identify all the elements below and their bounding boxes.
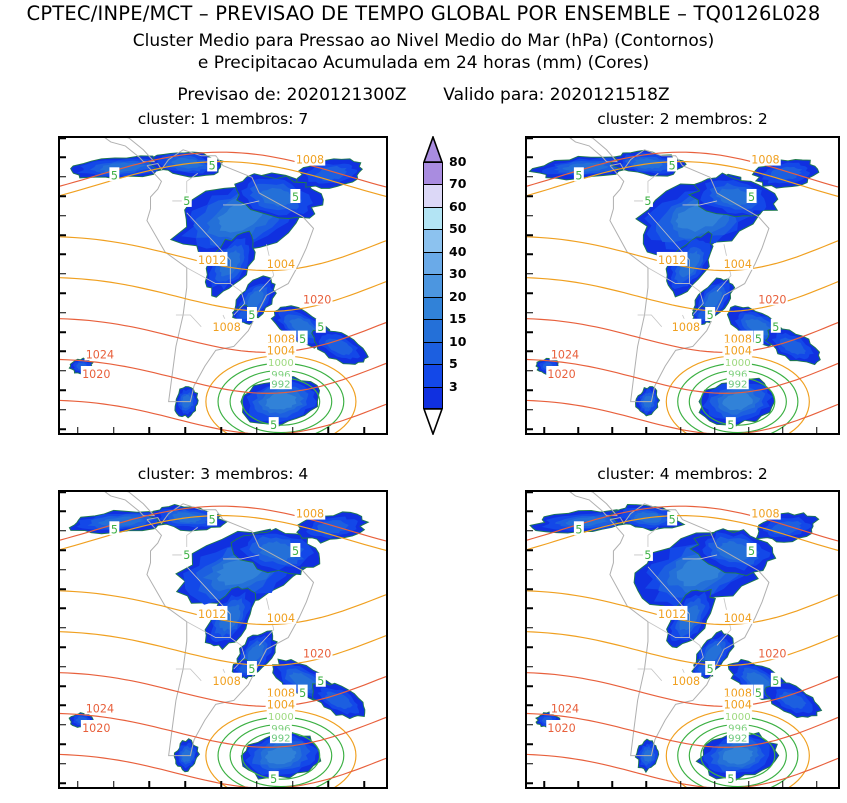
svg-text:1020: 1020 [547,368,575,381]
svg-text:5: 5 [669,160,676,173]
x-axis-tick-mark [816,427,818,433]
map-panel-cluster-2[interactable]: 1008101210041020102410201008100810041000… [525,136,840,435]
svg-text:1004: 1004 [724,612,752,625]
y-axis-tick-mark [527,569,533,571]
y-axis-tick-mark [527,254,533,256]
colorbar-tick-label: 5 [449,358,458,371]
colorbar-tick-label: 60 [449,201,466,214]
y-axis-tick-mark [60,627,66,629]
y-axis-tick-mark [60,157,66,159]
colorbar-tick-label: 3 [449,380,458,393]
svg-text:1012: 1012 [658,608,686,621]
panel-caption-cluster-4: cluster: 4 membros: 2 [525,465,840,483]
y-axis-tick-mark [60,705,66,707]
colorbar-band [423,297,443,319]
svg-text:5: 5 [575,169,582,182]
svg-text:1024: 1024 [86,702,114,715]
colorbar-band [423,229,443,251]
svg-text:5: 5 [755,333,762,346]
x-axis-tick-mark [543,427,545,433]
svg-text:5: 5 [248,663,255,676]
map-canvas: 1008101210041020102410201008100810041000… [60,138,386,433]
svg-text:1008: 1008 [672,675,700,688]
svg-text:5: 5 [575,523,582,536]
svg-text:5: 5 [292,545,299,558]
y-axis-tick-mark [527,666,533,668]
y-axis-tick-mark [60,511,66,513]
colorbar-under-arrow [423,409,443,435]
y-axis-tick-mark [60,273,66,275]
y-axis-tick-mark [527,724,533,726]
subtitle-line-2: e Precipitacao Acumulada em 24 horas (mm… [0,53,847,73]
x-axis-tick-mark [220,781,222,787]
y-axis-tick-mark [527,351,533,353]
y-axis-tick-mark [60,254,66,256]
x-axis-tick-mark [77,781,79,787]
svg-text:5: 5 [292,191,299,204]
panel-caption-cluster-2: cluster: 2 membros: 2 [525,110,840,128]
y-axis-tick-mark [527,549,533,551]
svg-text:5: 5 [317,321,324,334]
svg-text:1024: 1024 [86,348,114,361]
x-axis-tick-mark [184,427,186,433]
y-axis-tick-mark [60,137,66,139]
svg-text:1020: 1020 [82,368,110,381]
svg-text:5: 5 [183,195,190,208]
y-axis-tick-mark [60,782,66,784]
x-axis-tick-mark [714,781,716,787]
colorbar-tick-label: 30 [449,268,466,281]
svg-text:5: 5 [755,687,762,700]
y-axis-tick-mark [60,234,66,236]
y-axis-tick-mark [60,292,66,294]
y-axis-tick-mark [60,331,66,333]
forecast-datetime-row: Previsao de: 2020121300Z Valido para: 20… [0,85,847,105]
y-axis-tick-mark [60,215,66,217]
svg-text:1020: 1020 [82,722,110,735]
x-axis-tick-mark [184,781,186,787]
x-axis-tick-mark [782,427,784,433]
svg-text:5: 5 [248,309,255,322]
y-axis-tick-mark [60,389,66,391]
svg-text:5: 5 [727,773,734,786]
forecast-valid-label: Valido para: 2020121518Z [443,85,669,105]
svg-text:5: 5 [299,687,306,700]
colorbar-band [423,252,443,274]
svg-text:1024: 1024 [551,348,579,361]
colorbar-band [423,319,443,341]
x-axis-tick-mark [256,427,258,433]
svg-text:5: 5 [772,675,779,688]
x-axis-tick-mark [328,781,330,787]
svg-text:1024: 1024 [551,702,579,715]
x-axis-tick-mark [256,781,258,787]
colorbar-tick-label: 10 [449,335,466,348]
panel-caption-cluster-3: cluster: 3 membros: 4 [58,465,388,483]
y-axis-tick-mark [527,176,533,178]
y-axis-tick-mark [527,685,533,687]
x-axis-tick-mark [149,781,151,787]
svg-text:5: 5 [111,169,118,182]
y-axis-tick-mark [527,370,533,372]
y-axis-tick-mark [527,763,533,765]
y-axis-tick-mark [60,549,66,551]
y-axis-tick-mark [60,312,66,314]
page-title: CPTEC/INPE/MCT – PREVISAO DE TEMPO GLOBA… [0,2,847,25]
y-axis-tick-mark [527,530,533,532]
svg-text:5: 5 [111,523,118,536]
y-axis-tick-mark [527,627,533,629]
svg-text:5: 5 [707,663,714,676]
subtitle-line-1: Cluster Medio para Pressao ao Nivel Medi… [0,31,847,51]
x-axis-tick-mark [680,427,682,433]
x-axis-tick-mark [748,781,750,787]
svg-text:5: 5 [270,773,277,786]
svg-text:5: 5 [748,545,755,558]
y-axis-tick-mark [527,215,533,217]
y-axis-tick-mark [60,370,66,372]
y-axis-tick-mark [60,743,66,745]
y-axis-tick-mark [60,491,66,493]
map-canvas: 1008101210041020102410201008100810041000… [60,492,386,787]
map-canvas: 1008101210041020102410201008100810041000… [527,138,838,433]
y-axis-tick-mark [527,137,533,139]
x-axis-tick-mark [816,781,818,787]
x-axis-tick-mark [328,427,330,433]
colorbar-color-stack [423,162,443,409]
svg-text:992: 992 [728,734,747,745]
svg-text:1008: 1008 [212,321,240,334]
x-axis-tick-mark [363,427,365,433]
x-axis-tick-mark [680,781,682,787]
y-axis-tick-mark [527,157,533,159]
svg-text:5: 5 [748,191,755,204]
x-axis-tick-mark [612,427,614,433]
x-axis-tick-mark [113,781,115,787]
y-axis-tick-mark [527,428,533,430]
colorbar-band [423,342,443,364]
svg-text:1008: 1008 [296,508,324,521]
x-axis-tick-mark [612,781,614,787]
svg-text:1020: 1020 [758,293,786,306]
svg-text:5: 5 [644,195,651,208]
map-panel-cluster-3[interactable]: 1008101210041020102410201008100810041000… [58,490,388,789]
y-axis-tick-mark [527,389,533,391]
svg-text:1020: 1020 [547,722,575,735]
colorbar-band [423,207,443,229]
y-axis-tick-mark [527,646,533,648]
x-axis-tick-mark [543,781,545,787]
x-axis-tick-mark [748,427,750,433]
svg-text:1004: 1004 [267,258,295,271]
y-axis-tick-mark [60,646,66,648]
map-panel-cluster-4[interactable]: 1008101210041020102410201008100810041000… [525,490,840,789]
svg-text:5: 5 [669,514,676,527]
y-axis-tick-mark [60,409,66,411]
map-canvas: 1008101210041020102410201008100810041000… [527,492,838,787]
x-axis-tick-mark [220,427,222,433]
y-axis-tick-mark [527,782,533,784]
panel-caption-cluster-1: cluster: 1 membros: 7 [58,110,388,128]
y-axis-tick-mark [60,685,66,687]
y-axis-tick-mark [60,176,66,178]
y-axis-tick-mark [527,195,533,197]
x-axis-tick-mark [714,427,716,433]
forecast-init-label: Previsao de: 2020121300Z [177,85,406,105]
y-axis-tick-mark [527,705,533,707]
svg-text:992: 992 [728,380,747,391]
svg-text:1012: 1012 [198,254,226,267]
y-axis-tick-mark [60,569,66,571]
colorbar-tick-label: 20 [449,290,466,303]
x-axis-tick-mark [363,781,365,787]
y-axis-tick-mark [60,530,66,532]
y-axis-tick-mark [527,312,533,314]
y-axis-tick-mark [527,409,533,411]
svg-text:1008: 1008 [296,154,324,167]
svg-text:5: 5 [209,160,216,173]
svg-text:5: 5 [707,309,714,322]
map-panel-cluster-1[interactable]: 1008101210041020102410201008100810041000… [58,136,388,435]
colorbar-tick-label: 80 [449,156,466,169]
y-axis-tick-mark [527,608,533,610]
x-axis-tick-mark [149,427,151,433]
y-axis-tick-mark [60,588,66,590]
svg-text:1004: 1004 [267,612,295,625]
x-axis-tick-mark [646,427,648,433]
svg-text:5: 5 [299,333,306,346]
svg-text:992: 992 [271,380,290,391]
y-axis-tick-mark [527,292,533,294]
svg-text:1012: 1012 [658,254,686,267]
svg-text:1008: 1008 [751,154,779,167]
x-axis-tick-mark [113,427,115,433]
svg-text:5: 5 [270,419,277,432]
colorbar-tick-label: 50 [449,223,466,236]
colorbar-band [423,364,443,386]
colorbar-over-arrow [423,136,443,162]
svg-text:1008: 1008 [212,675,240,688]
colorbar-band [423,184,443,206]
colorbar-band [423,274,443,296]
colorbar-band [423,387,443,409]
x-axis-tick-mark [577,427,579,433]
x-axis-tick-mark [77,427,79,433]
svg-text:5: 5 [209,514,216,527]
y-axis-tick-mark [527,511,533,513]
x-axis-tick-mark [292,781,294,787]
y-axis-tick-mark [60,195,66,197]
x-axis-tick-mark [292,427,294,433]
y-axis-tick-mark [527,331,533,333]
colorbar-band [423,162,443,184]
svg-text:992: 992 [271,734,290,745]
svg-text:1020: 1020 [303,293,331,306]
svg-text:5: 5 [183,549,190,562]
y-axis-tick-mark [60,666,66,668]
svg-text:1020: 1020 [303,647,331,660]
y-axis-tick-mark [527,588,533,590]
svg-text:5: 5 [317,675,324,688]
y-axis-tick-mark [60,763,66,765]
svg-text:1008: 1008 [672,321,700,334]
y-axis-tick-mark [527,273,533,275]
y-axis-tick-mark [60,351,66,353]
y-axis-tick-mark [527,234,533,236]
y-axis-tick-mark [60,428,66,430]
svg-text:5: 5 [727,419,734,432]
y-axis-tick-mark [527,743,533,745]
y-axis-tick-mark [60,724,66,726]
colorbar-tick-label: 70 [449,178,466,191]
colorbar-tick-label: 15 [449,313,466,326]
svg-text:1012: 1012 [198,608,226,621]
x-axis-tick-mark [577,781,579,787]
precipitation-colorbar[interactable]: 80706050403020151053 [423,136,483,435]
x-axis-tick-mark [782,781,784,787]
svg-text:1020: 1020 [758,647,786,660]
svg-text:1008: 1008 [751,508,779,521]
y-axis-tick-mark [60,608,66,610]
svg-text:5: 5 [644,549,651,562]
svg-text:1004: 1004 [724,258,752,271]
svg-text:5: 5 [772,321,779,334]
colorbar-tick-label: 40 [449,246,466,259]
x-axis-tick-mark [646,781,648,787]
y-axis-tick-mark [527,491,533,493]
